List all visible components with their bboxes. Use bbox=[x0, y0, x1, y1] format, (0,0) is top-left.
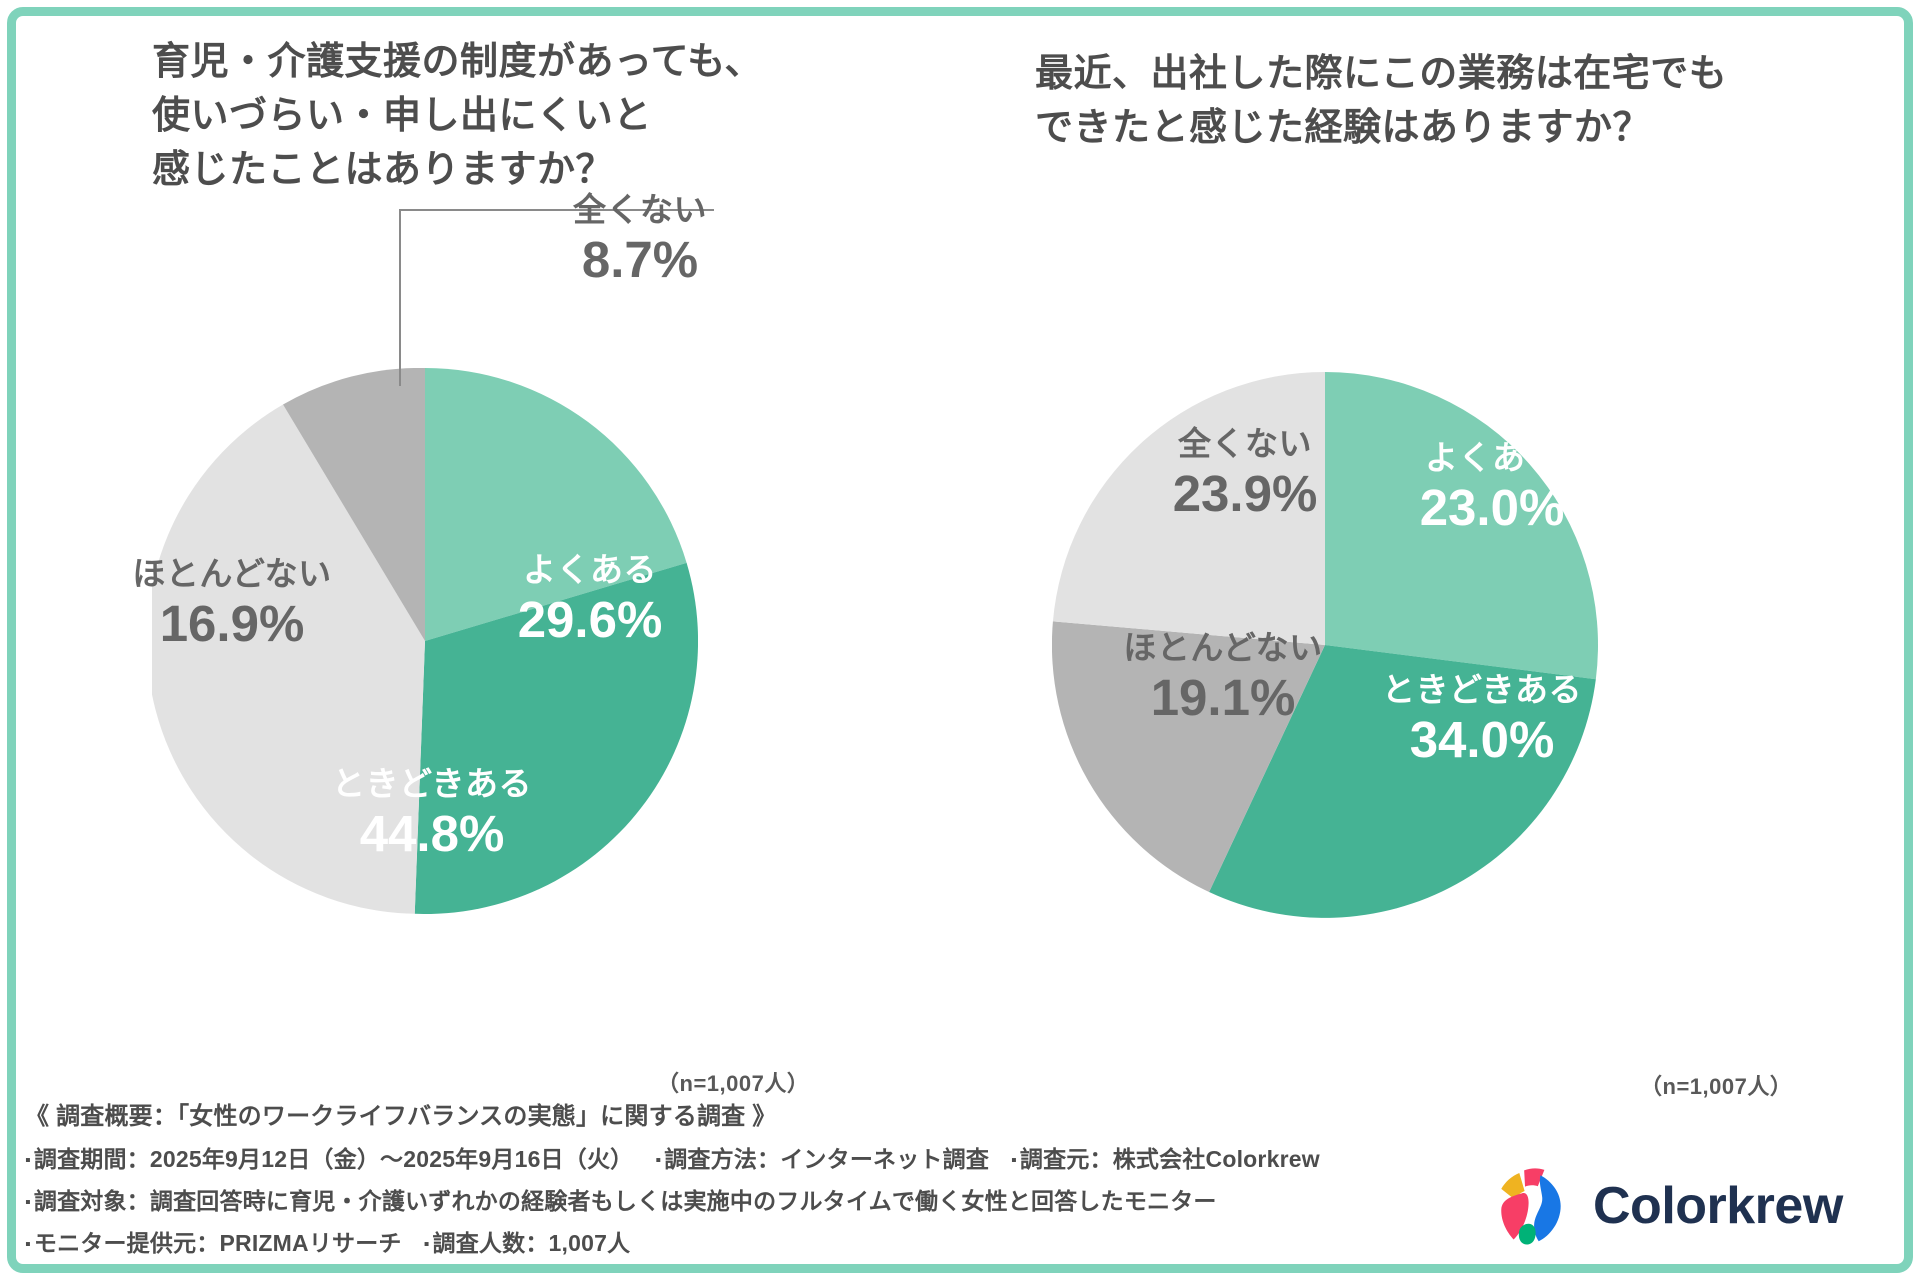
colorkrew-wordmark: Colorkrew bbox=[1593, 1176, 1843, 1236]
pie-left-label-mattaku: 全くない 8.7% bbox=[510, 192, 770, 287]
pie-right-label-mattaku: 全くない 23.9% bbox=[1120, 426, 1370, 521]
footer-line-period: ▪調査期間：2025年9月12日（金）〜2025年9月16日（火）▪調査方法：イ… bbox=[25, 1140, 1425, 1174]
footer-respondents-text: 調査人数：1,007人 bbox=[433, 1230, 631, 1256]
pie-chart-left: よくある 29.6% ときどきある 44.8% ほとんどない 16.9% 全くな… bbox=[152, 368, 832, 1058]
label-name: ほとんどない bbox=[102, 556, 362, 592]
label-name: ときどきある bbox=[1342, 672, 1622, 708]
pie-right-label-yokuaru: よくある 23.0% bbox=[1372, 440, 1612, 535]
footer-summary-line: 《 調査概要：「女性のワークライフバランスの実態」に関する調査 》 bbox=[25, 1096, 1425, 1131]
label-name: 全くない bbox=[1120, 426, 1370, 462]
footer-line-target: ▪調査対象：調査回答時に育児・介護いずれかの経験者もしくは実施中のフルタイムで働… bbox=[25, 1182, 1425, 1216]
pie-chart-right: よくある 23.0% ときどきある 34.0% ほとんどない 19.1% 全くな… bbox=[1052, 372, 1732, 1062]
label-value: 23.0% bbox=[1372, 480, 1612, 535]
colorkrew-logo-mark-icon bbox=[1485, 1162, 1573, 1250]
pie-right-label-hotondo: ほとんどない 19.1% bbox=[1088, 630, 1358, 725]
pie-left-label-hotondo: ほとんどない 16.9% bbox=[102, 556, 362, 651]
pie-left-label-tokidoki: ときどきある 44.8% bbox=[282, 766, 582, 861]
bullet-icon: ▪ bbox=[25, 1194, 31, 1211]
infographic-page: 育児・介護支援の制度があっても、 使いづらい・申し出にくいと 感じたことはありま… bbox=[0, 0, 1920, 1280]
label-value: 29.6% bbox=[470, 592, 710, 647]
bullet-icon: ▪ bbox=[1011, 1152, 1017, 1169]
pie-right-label-tokidoki: ときどきある 34.0% bbox=[1342, 672, 1622, 767]
label-value: 34.0% bbox=[1342, 712, 1622, 767]
footer-provider-text: モニター提供元：PRIZMAリサーチ bbox=[34, 1230, 402, 1256]
colorkrew-logo[interactable]: Colorkrew bbox=[1485, 1162, 1843, 1250]
sample-size-caption-right: （n=1,007人） bbox=[1640, 1069, 1792, 1101]
bullet-icon: ▪ bbox=[25, 1236, 31, 1253]
chart-title-right: 最近、出社した際にこの業務は在宅でも できたと感じた経験はありますか？ bbox=[1035, 48, 1727, 156]
label-value: 19.1% bbox=[1088, 670, 1358, 725]
label-name: よくある bbox=[1372, 440, 1612, 476]
footer-line-provider: ▪モニター提供元：PRIZMAリサーチ▪調査人数：1,007人 bbox=[25, 1224, 1425, 1258]
footer-method-text: 調査方法：インターネット調査 bbox=[664, 1146, 989, 1172]
chart-title-left: 育児・介護支援の制度があっても、 使いづらい・申し出にくいと 感じたことはありま… bbox=[152, 36, 763, 198]
label-name: ほとんどない bbox=[1088, 630, 1358, 666]
bullet-icon: ▪ bbox=[424, 1236, 430, 1253]
label-value: 16.9% bbox=[102, 596, 362, 651]
footer-survey-details: 《 調査概要：「女性のワークライフバランスの実態」に関する調査 》 ▪調査期間：… bbox=[25, 1096, 1425, 1266]
bullet-icon: ▪ bbox=[25, 1152, 31, 1169]
label-name: よくある bbox=[470, 552, 710, 588]
sample-size-caption-left: （n=1,007人） bbox=[657, 1066, 809, 1098]
footer-period-text: 調査期間：2025年9月12日（金）〜2025年9月16日（火） bbox=[34, 1146, 633, 1172]
footer-source-text: 調査元：株式会社Colorkrew bbox=[1020, 1146, 1320, 1172]
bullet-icon: ▪ bbox=[655, 1152, 661, 1169]
label-name: ときどきある bbox=[282, 766, 582, 802]
label-name: 全くない bbox=[510, 192, 770, 228]
label-value: 8.7% bbox=[510, 232, 770, 287]
label-value: 23.9% bbox=[1120, 466, 1370, 521]
label-value: 44.8% bbox=[282, 806, 582, 861]
footer-target-text: 調査対象：調査回答時に育児・介護いずれかの経験者もしくは実施中のフルタイムで働く… bbox=[34, 1188, 1217, 1214]
pie-left-label-yokuaru: よくある 29.6% bbox=[470, 552, 710, 647]
